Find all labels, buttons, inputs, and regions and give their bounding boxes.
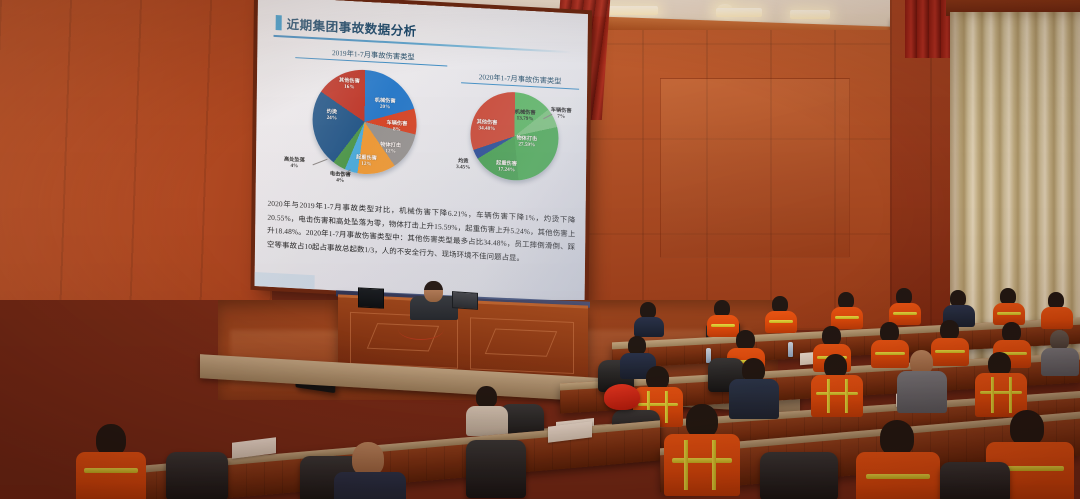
attendee-body <box>664 434 740 496</box>
reflective-stripe <box>816 392 858 395</box>
reflective-stripe <box>835 316 859 319</box>
charts-area: 2019年1-7月事故伤害类型 机械伤害20% 车辆伤害8% 物体打击12% <box>268 38 576 205</box>
conference-room-scene: 近期集团事故数据分析 2019年1-7月事故伤害类型 机械伤害20% <box>0 0 1080 499</box>
pie-2019-label-qizhong: 起重伤害12% <box>356 155 377 168</box>
chart-2020: 2020年1-7月事故伤害类型 机械伤害13.79% 车辆伤害7% 物体打击27… <box>455 70 585 89</box>
attendee-head <box>1002 322 1021 342</box>
reflective-stripe <box>638 403 678 406</box>
reflective-stripe <box>711 324 735 327</box>
attendee-body <box>466 406 508 436</box>
attendee-head <box>880 420 914 456</box>
reflective-stripe <box>980 391 1022 394</box>
attendee-head <box>1050 330 1069 350</box>
chair[interactable] <box>940 462 1010 499</box>
pie-2019-label-gaochu: 高处坠落4% <box>284 157 305 170</box>
pie-2019-leader-gaochu <box>313 158 328 165</box>
slide: 近期集团事故数据分析 2019年1-7月事故伤害类型 机械伤害20% <box>255 0 588 304</box>
attendee-body <box>1041 307 1073 329</box>
water-bottle[interactable] <box>788 342 793 357</box>
wall-panel-inset <box>660 78 850 258</box>
pie-2019-label-qita: 其他伤害16% <box>339 78 360 91</box>
pie-2020-label-wuti: 物体打击27.59% <box>516 136 537 149</box>
attendee-head <box>880 322 899 342</box>
attendee-body <box>765 311 797 333</box>
attendee-body <box>334 472 406 499</box>
attendee-body <box>811 375 863 417</box>
attendee-head <box>1010 410 1044 446</box>
pie-2020-label-qizhong: 起重伤害17.24% <box>496 161 517 174</box>
chair[interactable] <box>466 440 526 498</box>
wall-left <box>0 0 272 300</box>
attendee-body <box>897 371 947 413</box>
ceiling-light-panel <box>790 10 830 19</box>
reflective-stripe <box>1009 377 1012 413</box>
pie-2019-label-jixie: 机械伤害20% <box>375 98 396 111</box>
reflective-stripe <box>672 458 732 463</box>
ceiling-light-panel <box>604 6 658 15</box>
attendee-head <box>476 386 497 408</box>
reflective-stripe <box>893 312 917 315</box>
reflective-stripe <box>845 379 848 413</box>
reflective-stripe <box>827 379 830 413</box>
projection-screen[interactable]: 近期集团事故数据分析 2019年1-7月事故伤害类型 机械伤害20% <box>255 0 588 304</box>
presenter-head <box>424 281 443 302</box>
attendee-body <box>831 307 863 329</box>
chart-2019: 2019年1-7月事故伤害类型 机械伤害20% 车辆伤害8% 物体打击12% <box>283 45 463 67</box>
attendee-body <box>634 317 664 337</box>
reflective-stripe <box>875 352 905 355</box>
attendee-body <box>889 303 921 325</box>
attendee-head <box>686 404 718 438</box>
podium-monitor <box>358 287 384 308</box>
ceiling-light-panel <box>716 8 762 17</box>
attendee-head <box>352 442 384 476</box>
pie-2019-label-zhuotang: 灼烫24% <box>327 109 338 122</box>
chair[interactable] <box>760 452 838 499</box>
title-accent-bar <box>276 15 282 30</box>
pie-2019-label-wuti: 物体打击12% <box>380 142 401 155</box>
attendee-body <box>931 338 969 366</box>
attendee-body <box>707 315 739 337</box>
attendee-body <box>76 452 146 499</box>
attendee-body <box>729 379 779 419</box>
pie-2020-label-zhuotang: 灼烫3.45% <box>456 159 470 172</box>
attendee-body <box>1041 348 1079 376</box>
reflective-stripe <box>665 391 668 423</box>
reflective-stripe <box>769 320 793 323</box>
reflective-stripe <box>997 312 1021 315</box>
attendee-head <box>940 320 959 340</box>
pie-2020-label-cheliang: 车辆伤害7% <box>551 108 572 121</box>
attendee-body <box>856 452 940 499</box>
presenter-laptop[interactable] <box>452 291 478 310</box>
reflective-stripe <box>935 350 965 353</box>
pie-2020-label-jixie: 机械伤害13.79% <box>515 110 536 123</box>
podium-diamond-inlay <box>485 328 558 356</box>
attendee-body <box>871 340 909 368</box>
reflective-stripe <box>712 440 716 490</box>
reflective-stripe <box>84 468 138 473</box>
reflective-stripe <box>991 377 994 413</box>
pie-2019-label-dianji: 电击伤害4% <box>330 172 351 185</box>
reflective-stripe <box>684 440 688 490</box>
reflective-stripe <box>866 474 930 479</box>
slide-surface: 近期集团事故数据分析 2019年1-7月事故伤害类型 机械伤害20% <box>255 0 588 304</box>
attendee-head <box>736 330 755 350</box>
slide-body-text: 2020年与2019年1-7月事故类型对比，机械伤害下降6.21%，车辆伤害下降… <box>267 197 576 269</box>
chair[interactable] <box>166 452 228 499</box>
power-cable <box>398 318 444 340</box>
pie-2020-label-qita: 其他伤害34.48% <box>477 120 498 133</box>
safety-helmet[interactable] <box>604 384 640 410</box>
pie-2019-label-cheliang: 车辆伤害8% <box>386 121 407 134</box>
attendee-head <box>822 326 841 346</box>
